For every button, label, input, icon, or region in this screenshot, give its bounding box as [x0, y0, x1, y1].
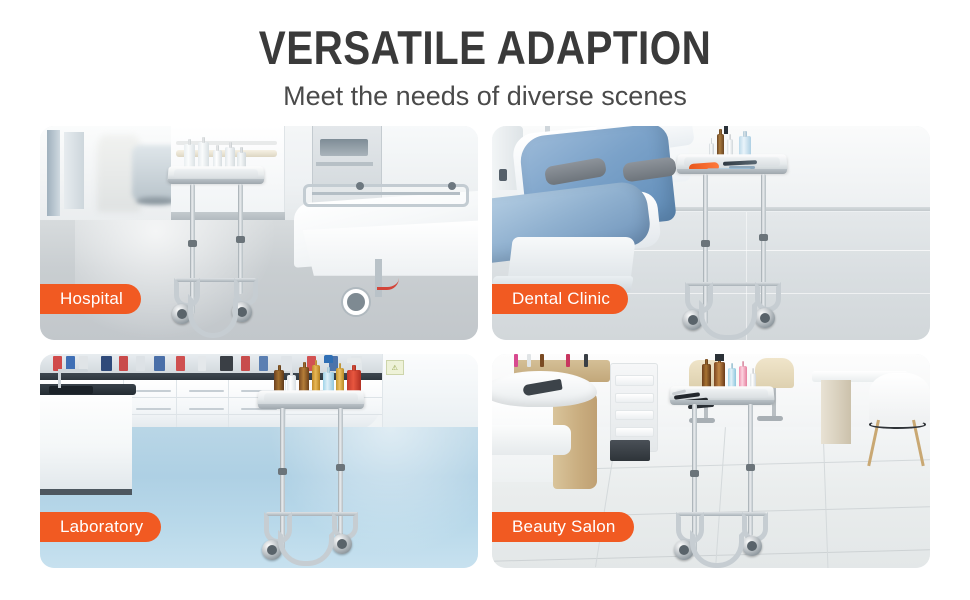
badge-dental-clinic: Dental Clinic [492, 284, 628, 314]
mayo-stand-salon [670, 386, 774, 568]
page-subtitle: Meet the needs of diverse scenes [0, 80, 970, 112]
scene-panel-dental-clinic[interactable]: Dental Clinic [492, 126, 930, 340]
scene-panel-hospital[interactable]: Hospital [40, 126, 478, 340]
page-header: VERSATILE ADAPTION Meet the needs of div… [0, 0, 970, 112]
page-title: VERSATILE ADAPTION [68, 22, 902, 74]
promo-page: VERSATILE ADAPTION Meet the needs of div… [0, 0, 970, 600]
mayo-stand-hospital [168, 166, 264, 338]
mayo-stand-laboratory [258, 390, 364, 566]
badge-hospital: Hospital [40, 284, 141, 314]
scene-panel-beauty-salon[interactable]: Beauty Salon [492, 354, 930, 568]
mayo-stand-dental [677, 154, 787, 340]
badge-beauty-salon: Beauty Salon [492, 512, 634, 542]
scene-panel-laboratory[interactable]: Laboratory [40, 354, 478, 568]
badge-laboratory: Laboratory [40, 512, 161, 542]
scene-grid: Hospital [40, 126, 930, 568]
